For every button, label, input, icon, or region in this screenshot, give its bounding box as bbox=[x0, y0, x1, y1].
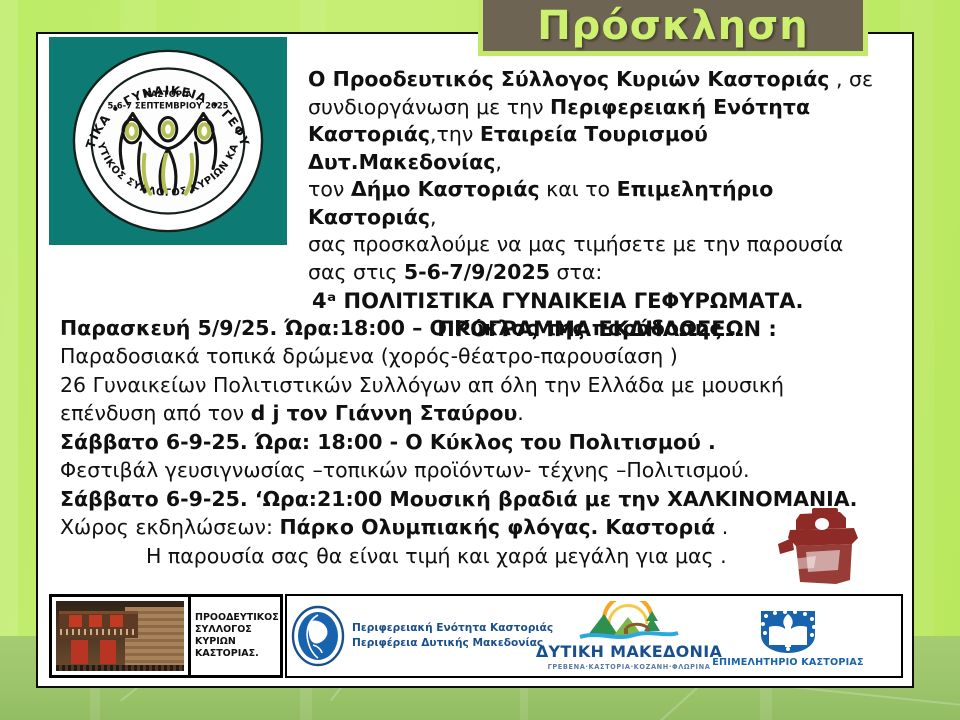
traditional-mansion-photo bbox=[56, 601, 184, 671]
dj-name: d j τον Γιάννη Σταύρου bbox=[251, 401, 518, 425]
intro-line-2: συνδιοργάνωση με την Περιφερειακή Ενότητ… bbox=[308, 94, 906, 122]
event-dates: 5-6-7/9/2025 bbox=[404, 260, 550, 284]
intro-paragraph: Ο Προοδευτικός Σύλλογος Κυριών Καστοριάς… bbox=[308, 66, 906, 343]
association-logo-icon: ΠΟΛΙΤΙΣΤΙΚΑ • ΓΥΝΑΙΚΕΙΑ • ΓΕΦΥΡΩΜΑΤΑ ΠΡΟ… bbox=[69, 45, 267, 237]
programme-day1-heading: Παρασκευή 5/9/25. Ώρα:18:00 – Ο Κύκλος τ… bbox=[60, 314, 900, 342]
title-banner: Πρόσκληση bbox=[478, 0, 868, 56]
programme-day2-line2: Φεστιβάλ γευσιγνωσίας –τοπικών προϊόντων… bbox=[60, 456, 900, 484]
mountains-sun-bridge-icon bbox=[574, 601, 684, 641]
association-label-line4: ΚΑΣΤΟΡΙΑΣ. bbox=[195, 648, 279, 660]
association-label-line2: ΣΥΛΛΟΓΟΣ bbox=[195, 624, 279, 636]
venue-name: Πάρκο Ολυμπιακής φλόγας. Καστοριά bbox=[279, 515, 715, 539]
chamber-label: ΕΠΙΜΕΛΗΤΗΡΙΟ ΚΑΣΤΟΡΙΑΣ bbox=[712, 657, 863, 668]
intro-line-6: σας στις 5-6-7/9/2025 στα: bbox=[308, 259, 906, 287]
intro-line-3: Καστοριάς,την Εταιρεία Τουρισμού Δυτ.Μακ… bbox=[308, 121, 906, 176]
association-label-line3: ΚΥΡΙΩΝ bbox=[195, 636, 279, 648]
programme-day1-line4: επένδυση από τον d j τον Γιάννη Σταύρου. bbox=[60, 399, 900, 427]
chamber-logo-cell: ΕΠΙΜΕΛΗΤΗΡΙΟ ΚΑΣΤΟΡΙΑΣ bbox=[673, 596, 903, 676]
organizer-name: Ο Προοδευτικός Σύλλογος Κυριών Καστοριάς bbox=[308, 67, 829, 91]
programme-day2-heading: Σάββατο 6-9-25. Ώρα: 18:00 - Ο Κύκλος το… bbox=[60, 428, 900, 456]
chamber-emblem-icon bbox=[749, 605, 827, 655]
emblem-center-line2: 5-6-7 ΣΕΠΤΕΜΒΡΙΟΥ 2025 bbox=[107, 101, 228, 111]
bg-stripe bbox=[0, 0, 18, 640]
intro-line-4: τον Δήμο Καστοριάς και το Επιμελητήριο Κ… bbox=[308, 176, 906, 231]
association-emblem-block: ΠΟΛΙΤΙΣΤΙΚΑ • ΓΥΝΑΙΚΕΙΑ • ΓΕΦΥΡΩΜΑΤΑ ΠΡΟ… bbox=[49, 37, 287, 245]
programme-day1-line2: Παραδοσιακά τοπικά δρώμενα (χορός-θέατρο… bbox=[60, 342, 900, 370]
invitation-card: ΠΟΛΙΤΙΣΤΙΚΑ • ΓΥΝΑΙΚΕΙΑ • ΓΕΦΥΡΩΜΑΤΑ ΠΡΟ… bbox=[36, 32, 914, 688]
association-name-box: ΠΡΟΟΔΕΥΤΙΚΟΣ ΣΥΛΛΟΓΟΣ ΚΥΡΙΩΝ ΚΑΣΤΟΡΙΑΣ. bbox=[191, 594, 283, 678]
page-title: Πρόσκληση bbox=[537, 6, 809, 46]
emblem-center-line1: ΚΑΣΤΟΡΙΑ bbox=[144, 89, 192, 99]
intro-line-1: Ο Προοδευτικός Σύλλογος Κυριών Καστοριάς… bbox=[308, 66, 906, 94]
intro-line-5: σας προσκαλούμε να μας τιμήσετε με την π… bbox=[308, 231, 906, 259]
partner-region: Περιφερειακή Ενότητα bbox=[550, 95, 810, 119]
event-title: 4ᵃ ΠΟΛΙΤΙΣΤΙΚΑ ΓΥΝΑΙΚΕΙΑ ΓΕΦΥΡΩΜΑΤΑ. bbox=[308, 287, 906, 315]
sponsor-logo-row: ΠΡΟΟΔΕΥΤΙΚΟΣ ΣΥΛΛΟΓΟΣ ΚΥΡΙΩΝ ΚΑΣΤΟΡΙΑΣ. … bbox=[49, 594, 903, 680]
partner-municipality: Δήμο Καστοριάς bbox=[351, 177, 540, 201]
association-label-line1: ΠΡΟΟΔΕΥΤΙΚΟΣ bbox=[195, 612, 279, 624]
region-globe-icon bbox=[291, 605, 345, 667]
association-photo-box bbox=[49, 594, 191, 678]
municipality-logo-icon bbox=[766, 494, 878, 590]
programme-day1-line3: 26 Γυναικείων Πολιτιστικών Συλλόγων απ ό… bbox=[60, 371, 900, 399]
partner-logo-strip: Περιφερειακή Ενότητα Καστοριάς Περιφέρει… bbox=[285, 594, 903, 678]
